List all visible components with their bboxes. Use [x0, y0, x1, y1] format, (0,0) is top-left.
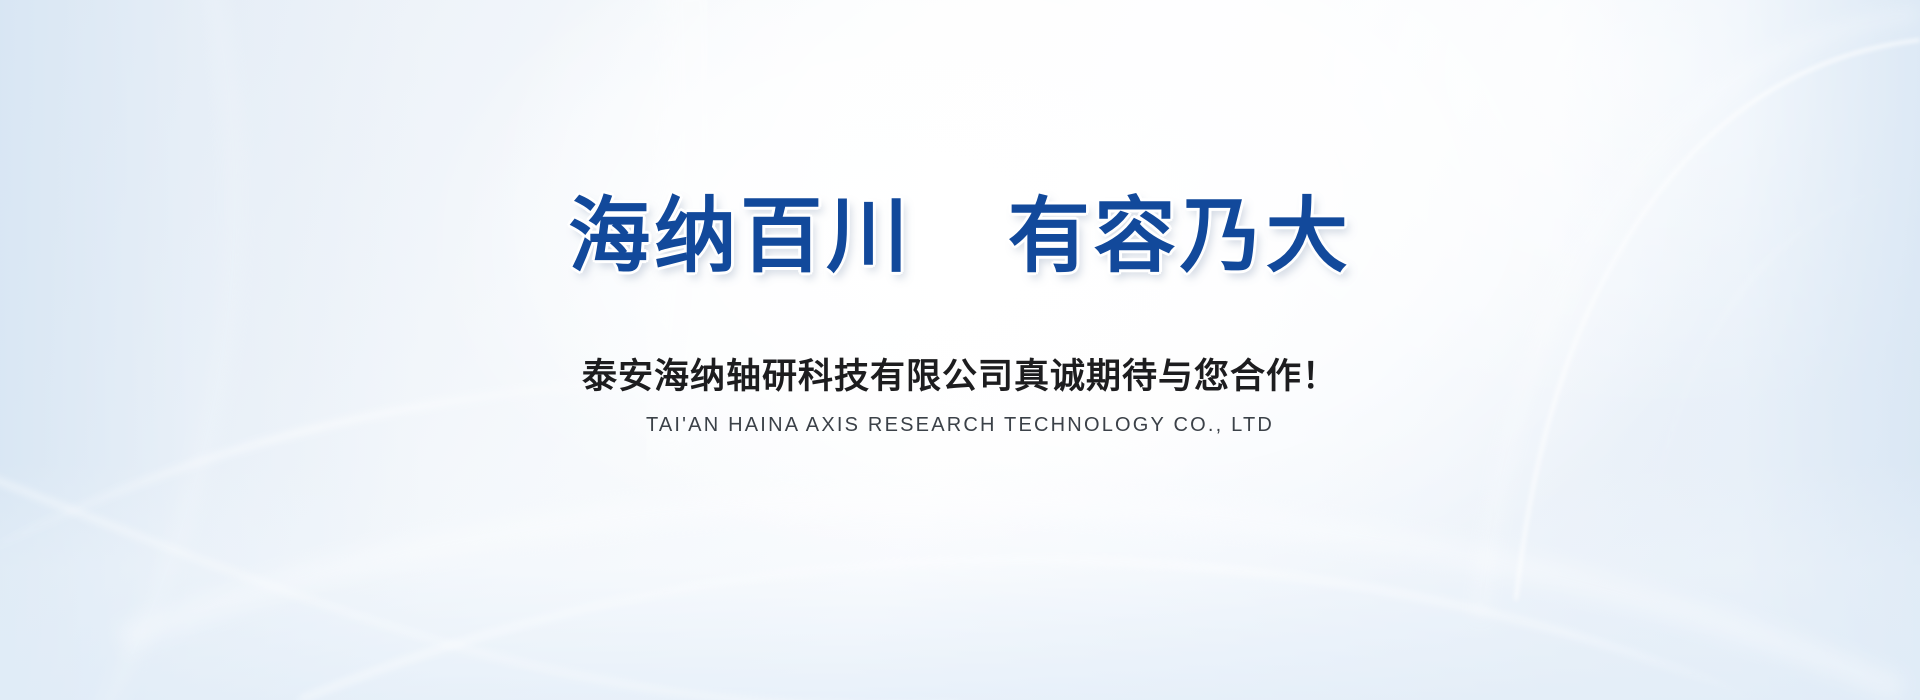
banner-subtitle-chinese: 泰安海纳轴研科技有限公司真诚期待与您合作！	[582, 356, 1338, 398]
headline-phrase-2: 有容乃大	[1008, 191, 1352, 282]
banner-subtitle-english: TAI'AN HAINA AXIS RESEARCH TECHNOLOGY CO…	[646, 413, 1274, 437]
headline-phrase-1: 海纳百川	[568, 191, 912, 282]
banner-headline: 海纳百川 有容乃大	[568, 196, 1352, 278]
hero-banner: 海纳百川 有容乃大 泰安海纳轴研科技有限公司真诚期待与您合作！ TAI'AN H…	[0, 0, 1920, 700]
banner-content: 海纳百川 有容乃大 泰安海纳轴研科技有限公司真诚期待与您合作！ TAI'AN H…	[0, 0, 1920, 700]
